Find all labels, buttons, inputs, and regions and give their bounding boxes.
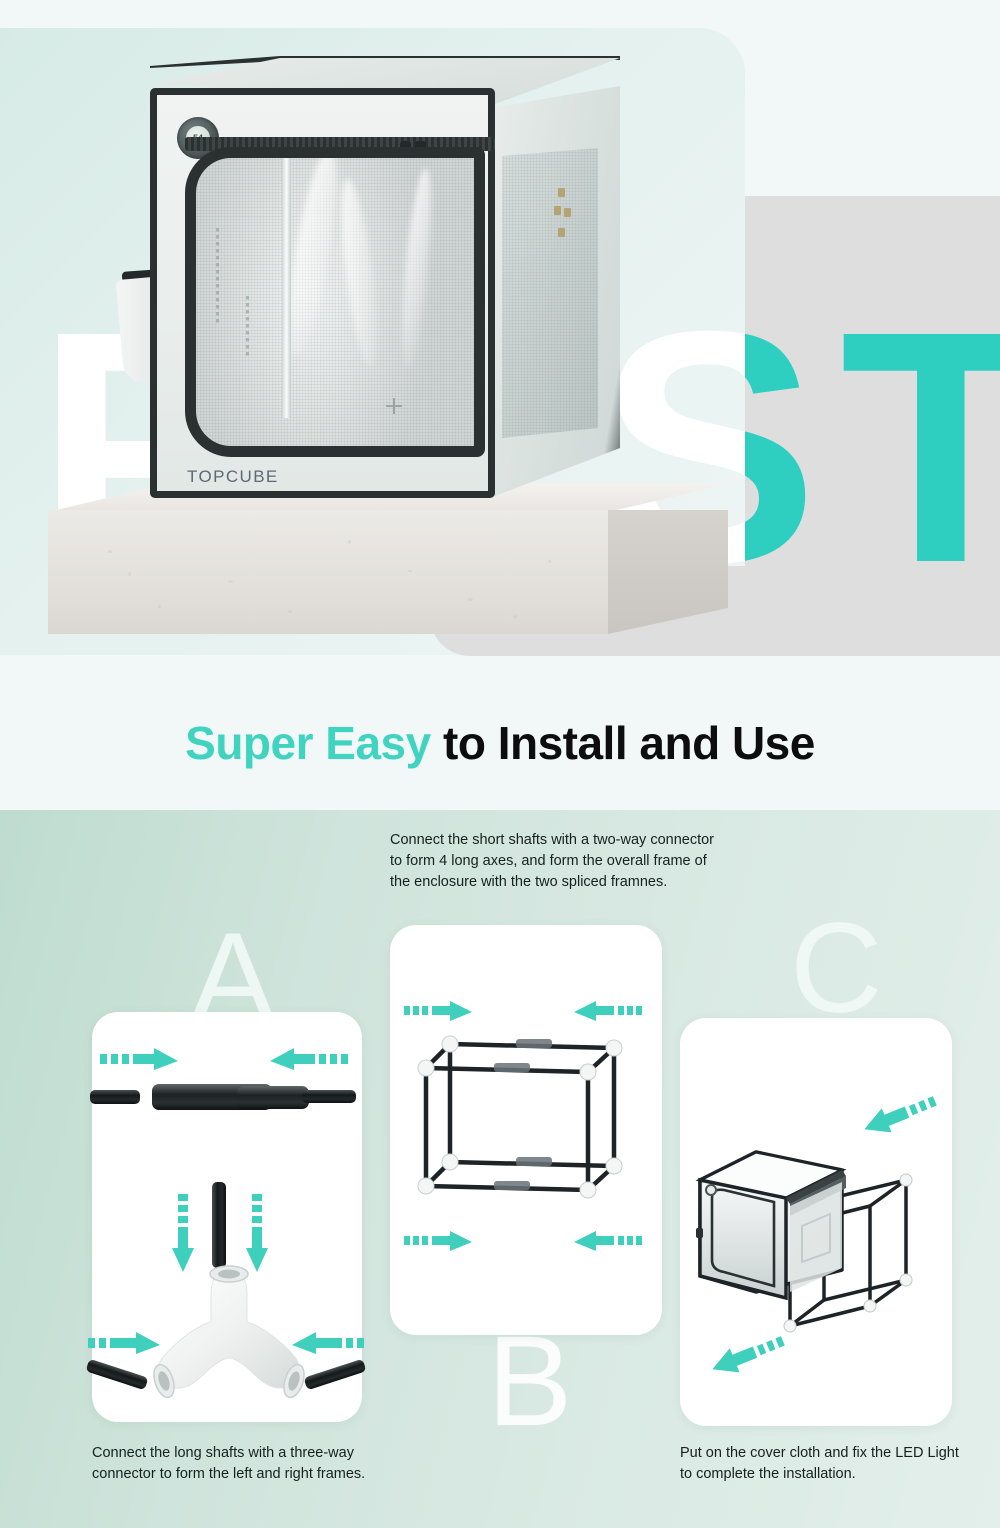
- pedestal-side-face: [608, 510, 728, 634]
- arrow-right-icon-a1: [100, 1046, 178, 1072]
- cabinet-vent-3: [564, 208, 571, 217]
- arrow-left-icon-a1: [270, 1046, 348, 1072]
- arrow-left-icon-b2: [574, 1230, 642, 1252]
- step-card-b: [390, 925, 662, 1335]
- arrow-right-icon-b2: [404, 1230, 472, 1252]
- product-pedestal: [48, 484, 728, 634]
- arrow-down-icon-a2: [244, 1194, 270, 1272]
- hero-section: F A S S T: [0, 0, 1000, 810]
- arrow-down-icon-a1: [170, 1194, 196, 1272]
- steps-intro-text: Connect the short shafts with a two-way …: [390, 830, 720, 893]
- short-shaft-left: [90, 1090, 140, 1104]
- two-way-connector-right: [237, 1086, 309, 1109]
- cabinet-front-panel: 54 TOPCUBE: [150, 88, 495, 498]
- cabinet-view-window: [185, 147, 485, 457]
- arrow-right-icon-a2: [88, 1330, 160, 1356]
- product-brand-label: TOPCUBE: [187, 467, 279, 487]
- step-caption-right: Put on the cover cloth and fix the LED L…: [680, 1443, 970, 1485]
- arrow-right-icon-b1: [404, 1000, 472, 1022]
- arrow-left-icon-b1: [574, 1000, 642, 1022]
- step-letter-b: B: [487, 1318, 572, 1446]
- short-shaft-right: [302, 1090, 356, 1103]
- assembled-cube-frame: [398, 1030, 654, 1225]
- cabinet-vent-4: [558, 228, 565, 237]
- cabinet-screw: [386, 398, 402, 414]
- long-shaft-vertical: [212, 1182, 226, 1268]
- step-card-c: [680, 1018, 952, 1426]
- interior-support-pole: [282, 158, 291, 418]
- cover-cloth-on-frame: [694, 1140, 944, 1345]
- page-title-accent: Super Easy: [185, 717, 431, 769]
- page-title-rest: to Install and Use: [431, 717, 815, 769]
- cabinet-vent-1: [558, 188, 565, 197]
- background-letter-t: T: [840, 282, 1000, 612]
- step-caption-left: Connect the long shafts with a three-way…: [92, 1443, 382, 1485]
- step-letter-c: C: [790, 905, 882, 1033]
- cabinet-vent-2: [554, 206, 561, 215]
- step-card-a: [92, 1012, 362, 1422]
- page-title: Super Easy to Install and Use: [0, 716, 1000, 770]
- arrow-upleft-icon-c1: [862, 1096, 938, 1136]
- arrow-left-icon-a2: [292, 1330, 364, 1356]
- cabinet-side-frame: [490, 86, 620, 498]
- pedestal-front-face: [48, 510, 610, 634]
- product-cabinet: 54 TOPCUBE: [150, 88, 620, 498]
